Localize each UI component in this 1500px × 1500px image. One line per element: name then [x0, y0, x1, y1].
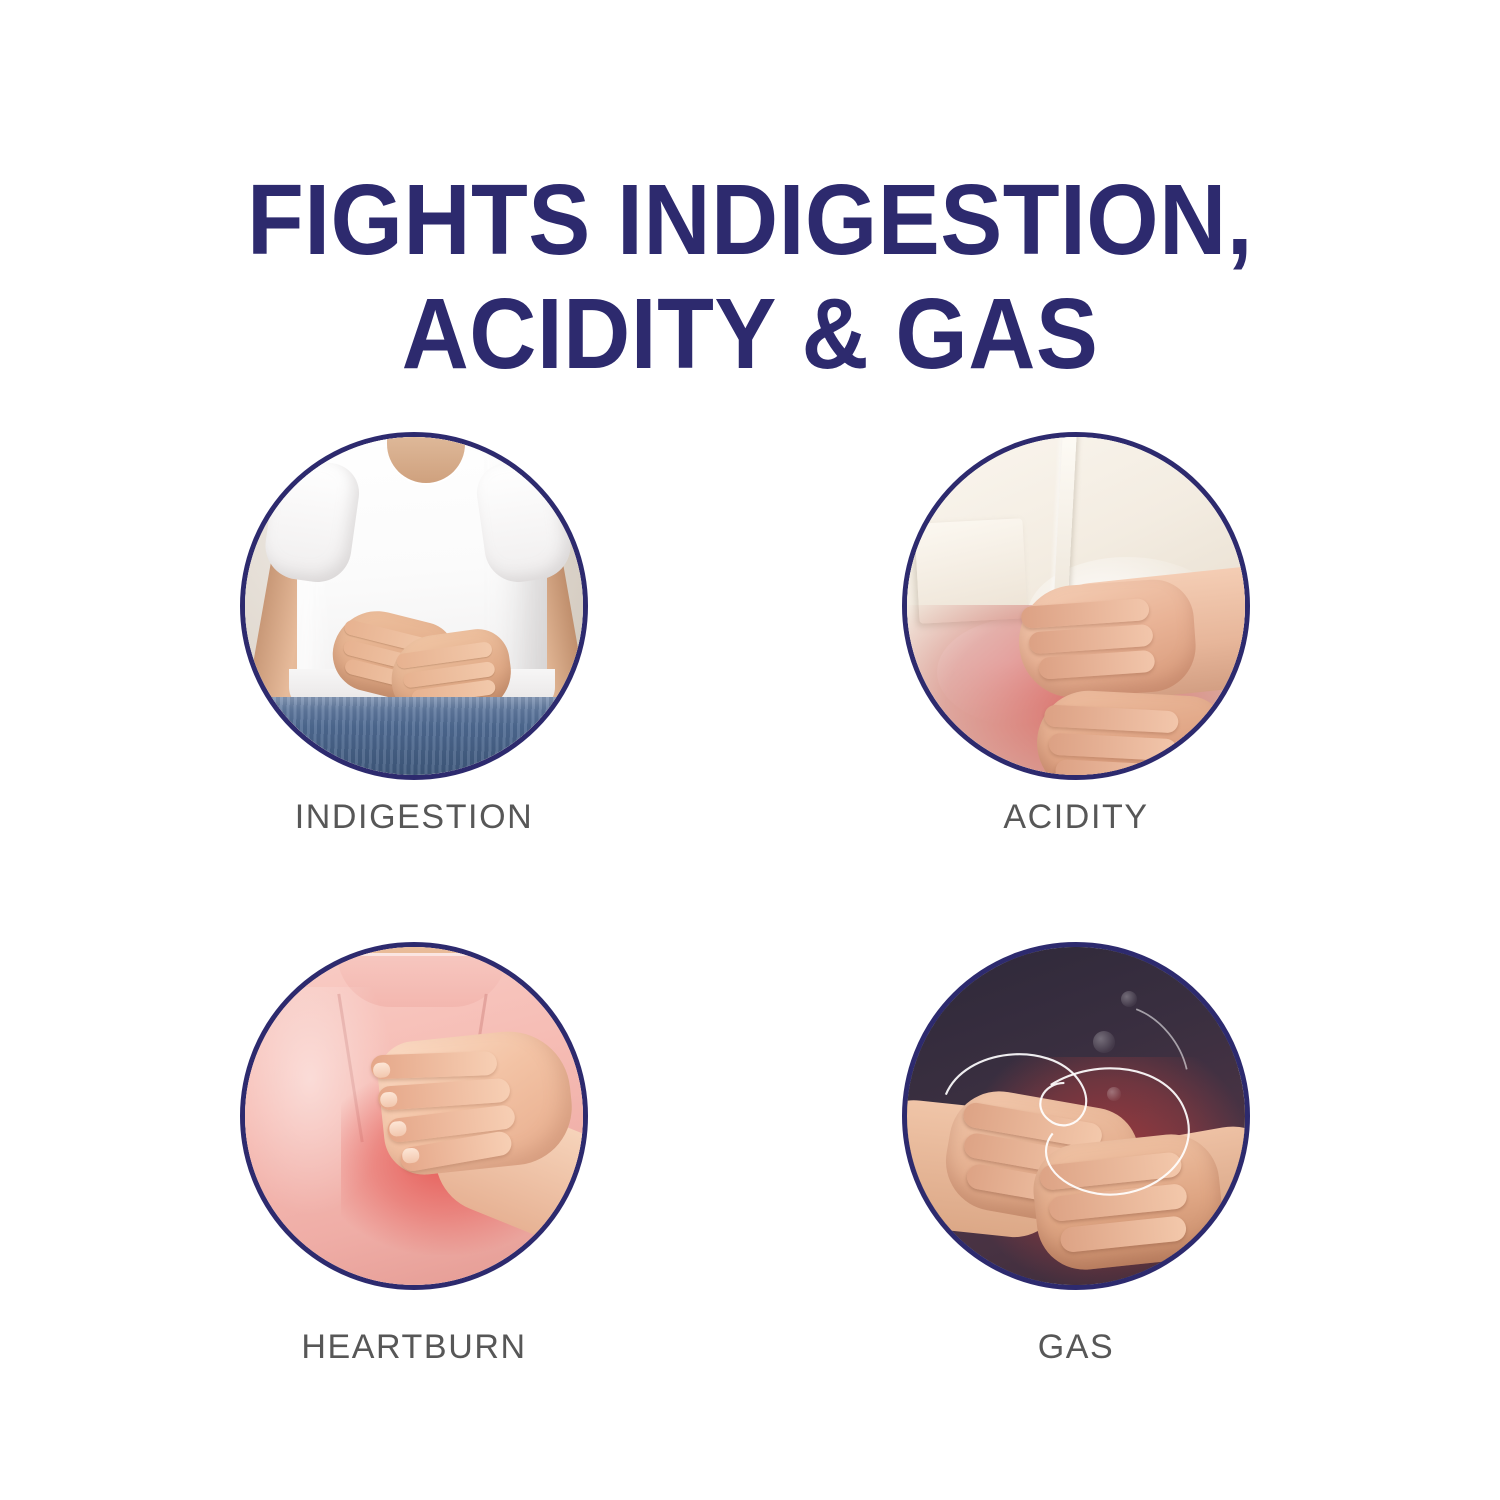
gas-bubble — [1121, 991, 1137, 1007]
acidity-photo — [907, 437, 1245, 775]
acidity-circle-frame — [902, 432, 1250, 780]
finger — [1048, 733, 1177, 762]
gas-photo — [907, 947, 1245, 1285]
symptom-grid: INDIGESTION — [150, 420, 1350, 1440]
heartburn-photo — [245, 947, 583, 1285]
upper-hand — [1015, 577, 1198, 701]
finger — [1028, 624, 1153, 655]
finger — [1044, 704, 1179, 733]
gas-bubble — [1107, 1087, 1121, 1101]
symptom-card-indigestion: INDIGESTION — [150, 420, 678, 890]
blue-jeans — [245, 697, 583, 775]
symptom-label-acidity: ACIDITY — [812, 798, 1340, 837]
gas-bubble — [1093, 1031, 1115, 1053]
right-hand — [1029, 1130, 1227, 1275]
symptom-label-heartburn: HEARTBURN — [150, 1328, 678, 1367]
finger — [1055, 759, 1174, 775]
heartburn-circle-frame — [240, 942, 588, 1290]
gas-circle-frame — [902, 942, 1250, 1290]
indigestion-photo — [245, 437, 583, 775]
symptom-card-gas: GAS — [812, 930, 1340, 1400]
promo-graphic: FIGHTS INDIGESTION, ACIDITY & GAS — [0, 0, 1500, 1500]
symptom-label-indigestion: INDIGESTION — [150, 798, 678, 837]
finger — [1038, 650, 1155, 680]
indigestion-circle-frame — [240, 432, 588, 780]
finger — [1059, 1215, 1187, 1253]
lower-hand — [1034, 688, 1229, 775]
symptom-card-heartburn: HEARTBURN — [150, 930, 678, 1400]
symptom-label-gas: GAS — [812, 1328, 1340, 1367]
symptom-card-acidity: ACIDITY — [812, 420, 1340, 890]
page-title: FIGHTS INDIGESTION, ACIDITY & GAS — [53, 163, 1448, 391]
finger — [371, 1051, 498, 1079]
